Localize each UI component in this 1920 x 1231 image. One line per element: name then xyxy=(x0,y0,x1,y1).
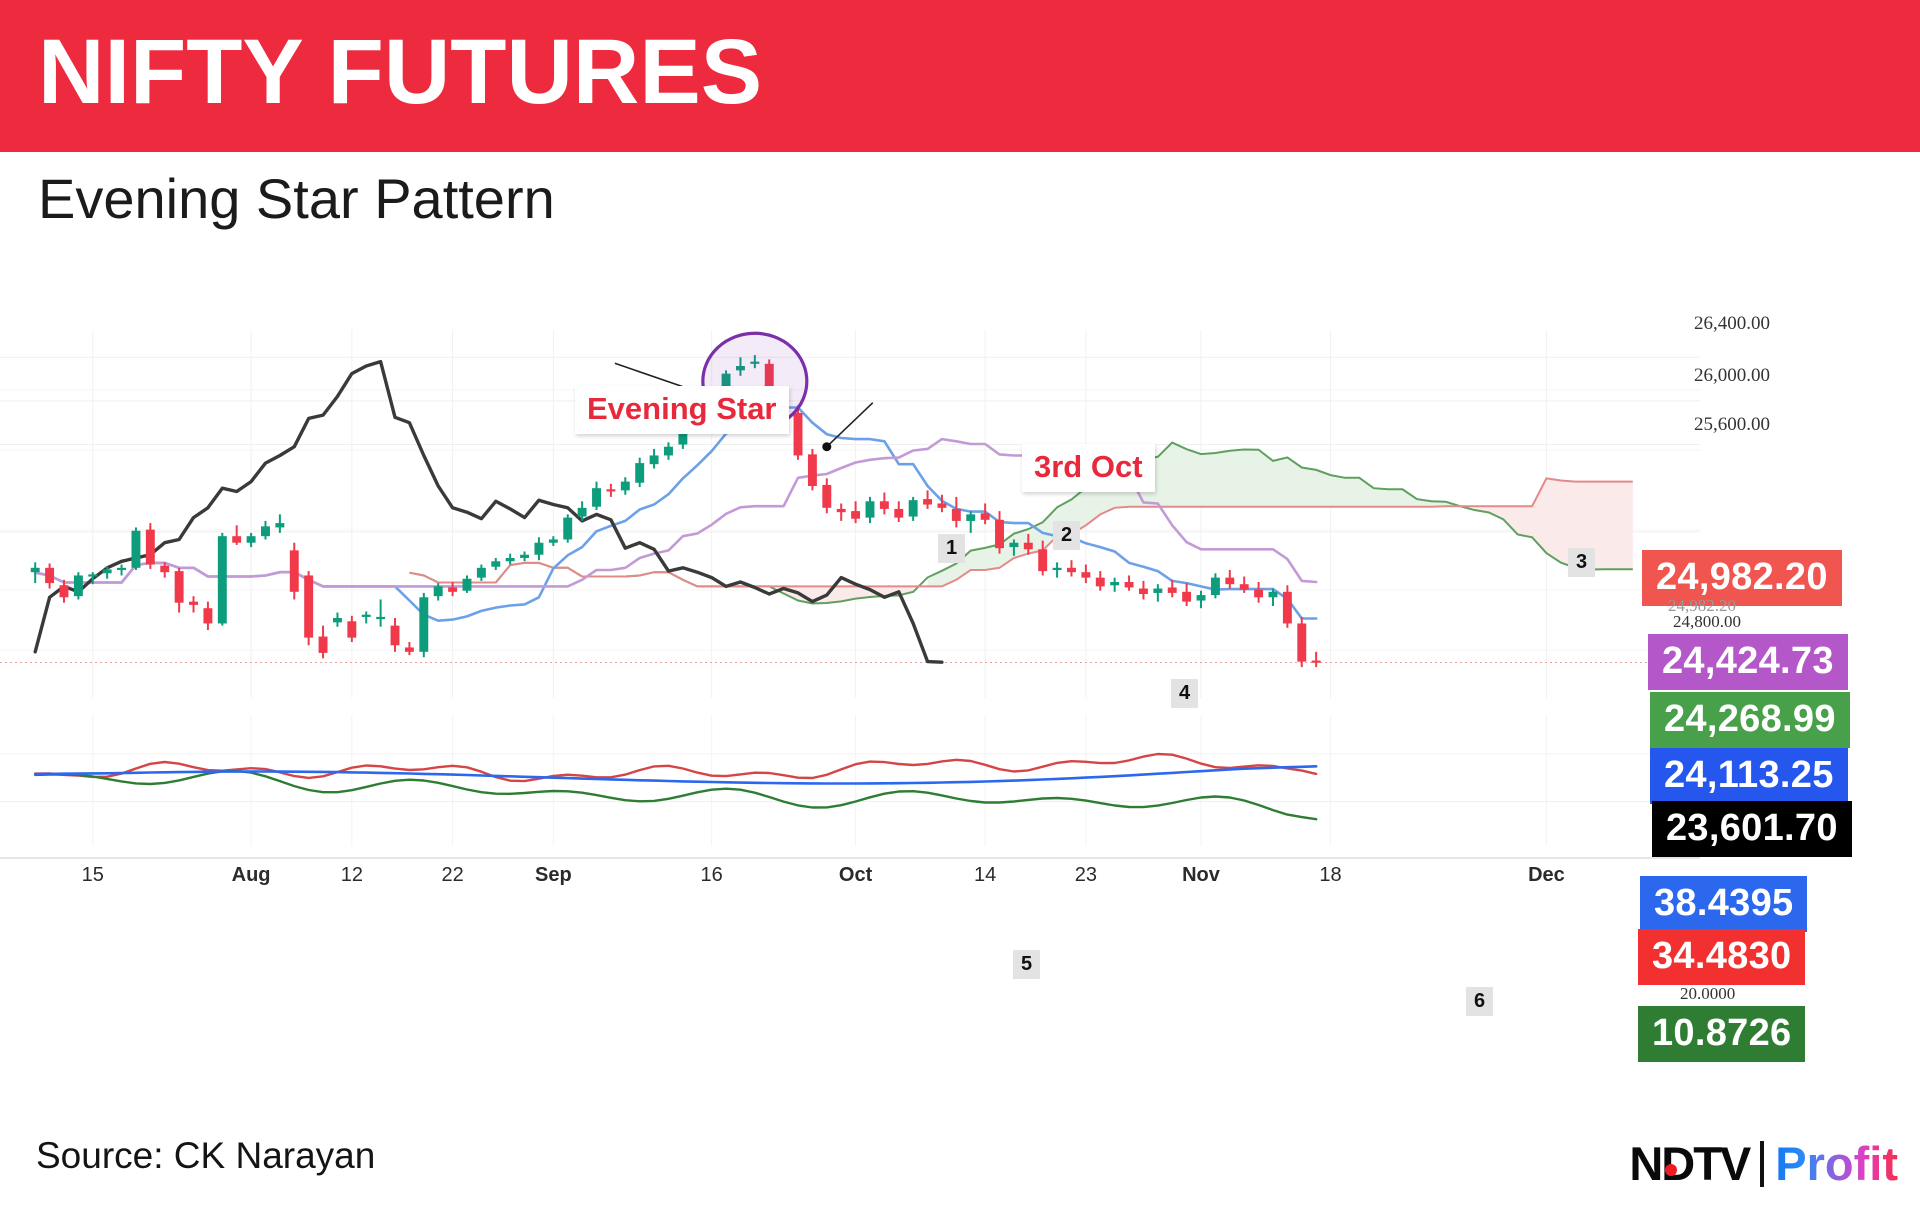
xtick-sep: Sep xyxy=(535,864,572,887)
marker-1: 1 xyxy=(938,534,965,563)
xtick-15: 15 xyxy=(82,864,104,887)
indicator-label-di-minus: 10.8726 xyxy=(1638,1006,1805,1062)
xtick-23: 23 xyxy=(1075,864,1097,887)
ytick-26000: 26,000.00 xyxy=(1694,365,1770,387)
indicator-label-adx: 38.4395 xyxy=(1640,876,1807,932)
xtick-oct: Oct xyxy=(839,864,872,887)
price-label-kijun: 24,424.73 xyxy=(1648,634,1848,690)
ytick-25600: 25,600.00 xyxy=(1694,414,1770,436)
xtick-22: 22 xyxy=(441,864,463,887)
price-label-senkou-a: 24,268.99 xyxy=(1650,692,1850,748)
annotation-3rd-oct: 3rd Oct xyxy=(1022,444,1155,492)
ndtv-profit-logo: NDTV Profit xyxy=(1629,1138,1898,1190)
xtick-12: 12 xyxy=(341,864,363,887)
ytick-26400: 26,400.00 xyxy=(1694,313,1770,335)
ytick-24800-text: 24,800.00 xyxy=(1673,612,1741,631)
ytick-sub-20: 20.0000 xyxy=(1680,984,1735,1004)
ytick-26000-text: 26,000.00 xyxy=(1694,365,1770,386)
xtick-16: 16 xyxy=(701,864,723,887)
marker-6: 6 xyxy=(1466,987,1493,1016)
marker-5: 5 xyxy=(1013,950,1040,979)
xtick-nov: Nov xyxy=(1182,864,1220,887)
logo-divider xyxy=(1760,1141,1764,1187)
candlestick-chart xyxy=(0,330,1920,1070)
annotation-evening-star: Evening Star xyxy=(575,386,789,434)
chart-canvas: 15Aug1222Sep16Oct1423Nov18Dec xyxy=(0,330,1920,1070)
marker-4: 4 xyxy=(1171,679,1198,708)
indicator-label-di-plus: 34.4830 xyxy=(1638,929,1805,985)
source-credit: Source: CK Narayan xyxy=(36,1135,375,1177)
xtick-aug: Aug xyxy=(232,864,271,887)
ytick-24800: 24,800.00 xyxy=(1673,612,1741,632)
page-title: NIFTY FUTURES xyxy=(38,16,762,128)
price-label-last: 23,601.70 xyxy=(1652,801,1852,857)
xtick-18: 18 xyxy=(1319,864,1341,887)
marker-2: 2 xyxy=(1053,521,1080,550)
profit-wordmark: Profit xyxy=(1775,1138,1898,1190)
xtick-dec: Dec xyxy=(1528,864,1565,887)
marker-3: 3 xyxy=(1568,548,1595,577)
ytick-25600-text: 25,600.00 xyxy=(1694,414,1770,435)
page-subtitle: Evening Star Pattern xyxy=(38,166,555,232)
xtick-14: 14 xyxy=(974,864,996,887)
ytick-26400-text: 26,400.00 xyxy=(1694,313,1770,334)
infographic-root: NIFTY FUTURES Evening Star Pattern 15Aug… xyxy=(0,0,1920,1231)
ndtv-wordmark-text: NDTV xyxy=(1629,1137,1749,1190)
ytick-sub-20-text: 20.0000 xyxy=(1680,984,1735,1003)
price-label-tenkan: 24,113.25 xyxy=(1650,748,1848,804)
ndtv-wordmark: NDTV xyxy=(1629,1138,1749,1190)
